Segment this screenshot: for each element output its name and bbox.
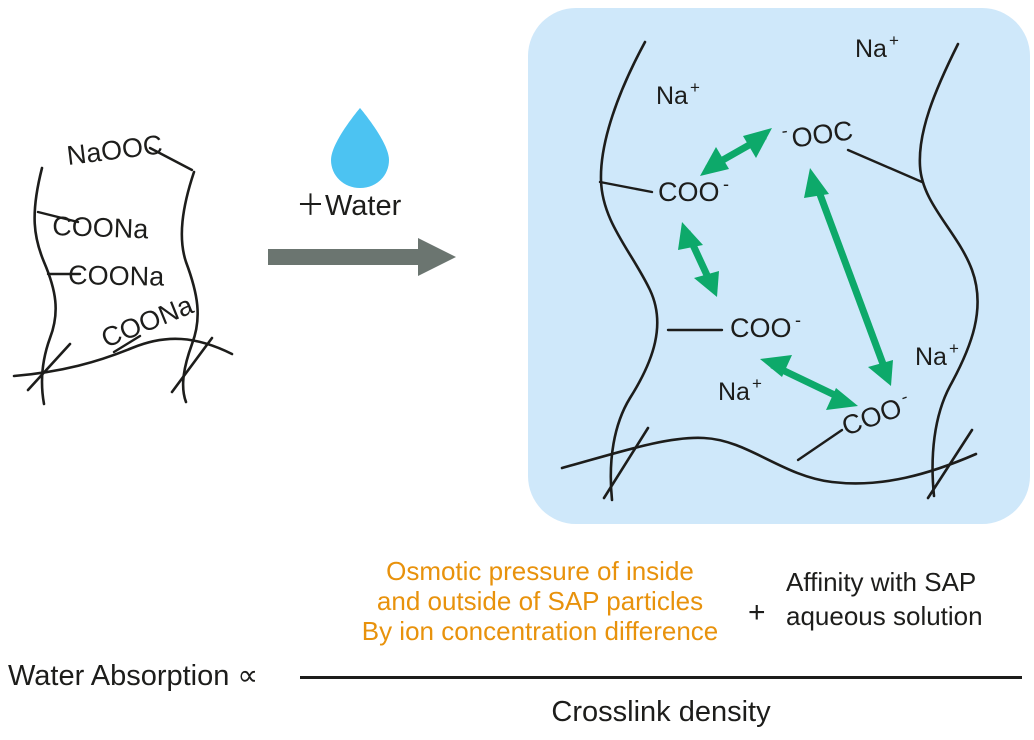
numerator-black-line-1: Affinity with SAP [786, 566, 1026, 600]
numerator-black-line-2: aqueous solution [786, 600, 1026, 634]
numerator-orange-line-2: and outside of SAP particles [330, 586, 750, 616]
denominator-crosslink-density: Crosslink density [300, 696, 1022, 730]
formula-plus-sign: + [748, 596, 766, 631]
formula-layer: ＋Water Water Absorption ∝ Osmotic pressu… [0, 0, 1034, 740]
numerator-osmotic-pressure: Osmotic pressure of inside and outside o… [330, 556, 750, 646]
numerator-orange-line-3: By ion concentration difference [330, 616, 750, 646]
numerator-affinity: Affinity with SAP aqueous solution [786, 566, 1026, 634]
figure-root: NaOOC COONa COONa COONa [0, 0, 1034, 740]
plus-water-caption: ＋Water [296, 190, 401, 224]
water-absorption-label: Water Absorption ∝ [8, 660, 258, 694]
fraction-bar [300, 676, 1022, 679]
numerator-orange-line-1: Osmotic pressure of inside [330, 556, 750, 586]
